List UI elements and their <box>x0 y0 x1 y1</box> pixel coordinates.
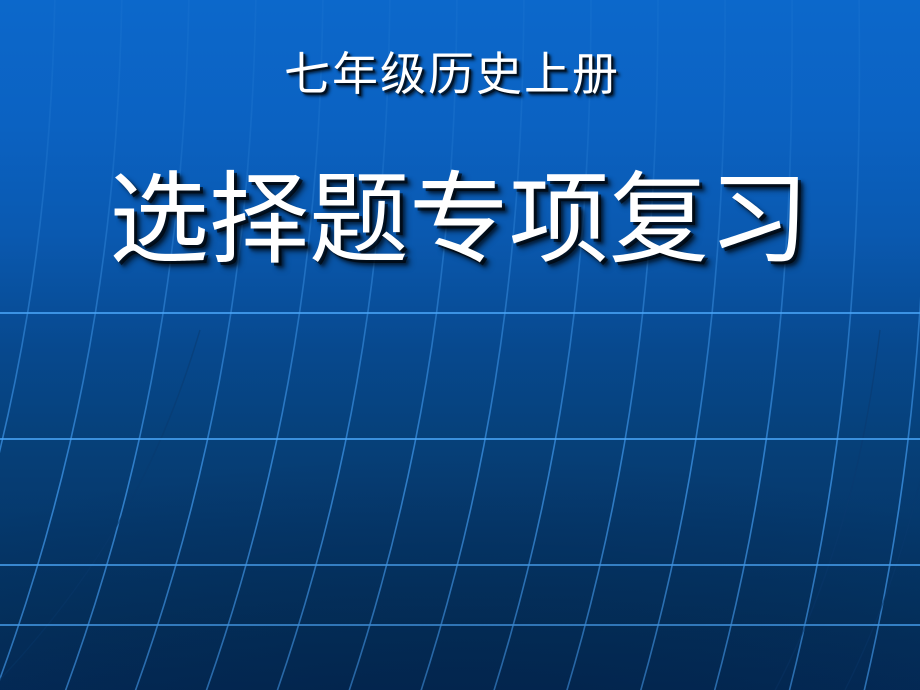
slide-title: 选择题专项复习 <box>0 168 919 273</box>
slide-text-layer: 七年级历史上册 选择题专项复习 <box>0 0 920 690</box>
presentation-slide: 七年级历史上册 选择题专项复习 <box>0 0 920 690</box>
slide-subtitle: 七年级历史上册 <box>0 52 912 98</box>
